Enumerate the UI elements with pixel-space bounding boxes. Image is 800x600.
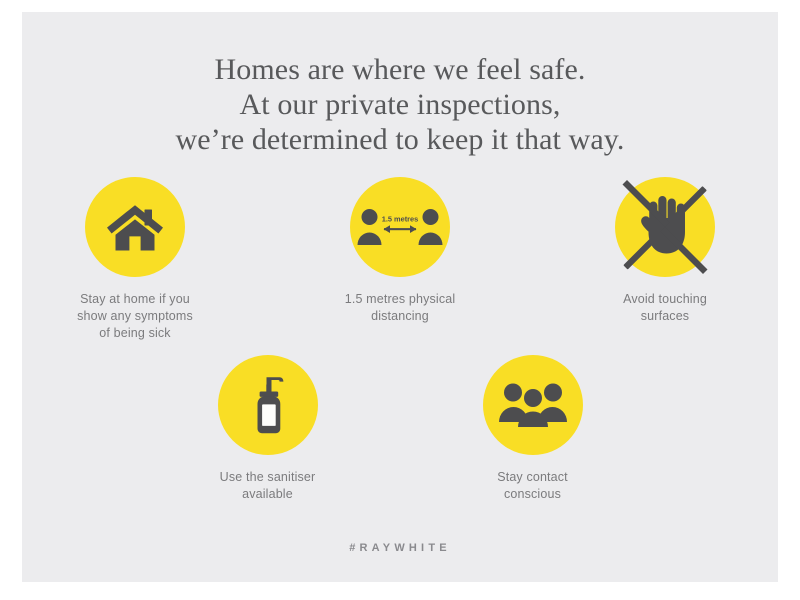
social-distancing-badge: 1.5 metres — [350, 177, 450, 277]
caption-line-2: surfaces — [623, 308, 707, 325]
caption-line-2: distancing — [345, 308, 456, 325]
tile-row-top: Stay at home if you show any symptoms of… — [22, 177, 778, 342]
tile-avoid-touching: Avoid touching surfaces — [573, 177, 758, 342]
caption-line-1: 1.5 metres physical — [345, 291, 456, 308]
tile-row-bottom: Use the sanitiser available — [22, 355, 778, 503]
tile-caption: Stay contact conscious — [497, 469, 568, 503]
tile-contact-conscious: Stay contact conscious — [440, 355, 625, 503]
caption-line-1: Avoid touching — [623, 291, 707, 308]
house-icon — [106, 201, 164, 253]
caption-line-2: conscious — [497, 486, 568, 503]
distance-label: 1.5 metres — [382, 215, 419, 224]
headline-line-2: At our private inspections, — [22, 87, 778, 122]
tile-caption: Stay at home if you show any symptoms of… — [77, 291, 193, 342]
social-distancing-icon: 1.5 metres — [357, 206, 443, 248]
no-touching-badge — [615, 177, 715, 277]
headline-line-3: we’re determined to keep it that way. — [22, 122, 778, 157]
caption-line-1: Stay at home if you — [77, 291, 193, 308]
brand-hashtag: #RAYWHITE — [22, 542, 778, 554]
caption-line-3: of being sick — [77, 325, 193, 342]
caption-line-2: available — [220, 486, 316, 503]
house-badge — [85, 177, 185, 277]
poster-canvas: Homes are where we feel safe. At our pri… — [22, 12, 778, 582]
guideline-tiles: Stay at home if you show any symptoms of… — [22, 177, 778, 503]
tile-caption: Avoid touching surfaces — [623, 291, 707, 325]
caption-line-1: Stay contact — [497, 469, 568, 486]
tile-stay-at-home: Stay at home if you show any symptoms of… — [43, 177, 228, 342]
group-badge — [483, 355, 583, 455]
sanitiser-badge — [218, 355, 318, 455]
tile-caption: Use the sanitiser available — [220, 469, 316, 503]
headline-line-1: Homes are where we feel safe. — [22, 52, 778, 87]
group-of-people-icon — [499, 381, 567, 429]
caption-line-2: show any symptoms — [77, 308, 193, 325]
tile-caption: 1.5 metres physical distancing — [345, 291, 456, 325]
tile-physical-distancing: 1.5 metres 1.5 metres physical distancin… — [308, 177, 493, 342]
sanitiser-bottle-icon — [245, 374, 291, 436]
tile-use-sanitiser: Use the sanitiser available — [175, 355, 360, 503]
caption-line-1: Use the sanitiser — [220, 469, 316, 486]
page-title: Homes are where we feel safe. At our pri… — [22, 52, 778, 157]
no-touching-hand-icon — [610, 172, 720, 282]
